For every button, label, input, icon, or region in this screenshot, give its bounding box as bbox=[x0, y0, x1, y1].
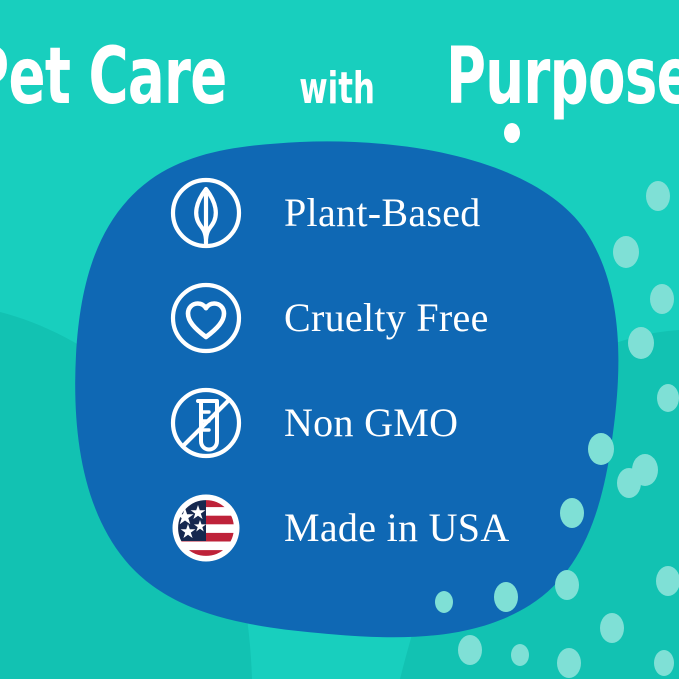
usa-flag-circle-icon bbox=[168, 490, 244, 566]
no-gmo-test-tube-icon bbox=[168, 385, 244, 461]
promo-banner: Pet Care with Purpose ® Plant-Based bbox=[0, 0, 679, 679]
title-part1: Pet Care bbox=[0, 46, 226, 110]
title-part2: with bbox=[298, 71, 376, 107]
claim-label-made-in-usa: Made in USA bbox=[284, 508, 510, 548]
claim-item-non-gmo: Non GMO bbox=[168, 388, 588, 458]
claim-item-plant-based: Plant-Based bbox=[168, 178, 588, 248]
claim-label-cruelty-free: Cruelty Free bbox=[284, 298, 489, 338]
page-title: Pet Care with Purpose ® bbox=[0, 14, 679, 110]
claims-list: Plant-Based Cruelty Free bbox=[168, 178, 588, 563]
claim-label-non-gmo: Non GMO bbox=[284, 403, 458, 443]
heart-in-circle-icon bbox=[168, 280, 244, 356]
claim-item-made-in-usa: Made in USA bbox=[168, 493, 588, 563]
claim-label-plant-based: Plant-Based bbox=[284, 193, 481, 233]
title-part3: Purpose bbox=[446, 46, 679, 110]
leaf-in-circle-icon bbox=[168, 175, 244, 251]
claim-item-cruelty-free: Cruelty Free bbox=[168, 283, 588, 353]
